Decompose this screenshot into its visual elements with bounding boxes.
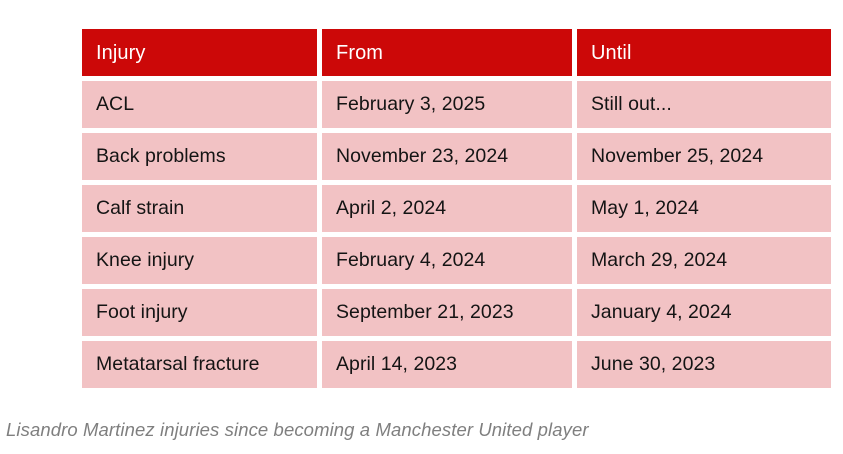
table-row: Foot injury September 21, 2023 January 4… <box>82 289 831 336</box>
cell-from: February 3, 2025 <box>322 81 572 128</box>
table-row: Calf strain April 2, 2024 May 1, 2024 <box>82 185 831 232</box>
table-header: Injury From Until <box>82 29 831 76</box>
cell-from: April 2, 2024 <box>322 185 572 232</box>
cell-injury: ACL <box>82 81 317 128</box>
cell-injury: Metatarsal fracture <box>82 341 317 388</box>
injury-history-table: Injury From Until ACL February 3, 2025 S… <box>77 24 836 393</box>
table-row: ACL February 3, 2025 Still out... <box>82 81 831 128</box>
cell-until: June 30, 2023 <box>577 341 831 388</box>
table-row: Back problems November 23, 2024 November… <box>82 133 831 180</box>
cell-from: February 4, 2024 <box>322 237 572 284</box>
cell-until: Still out... <box>577 81 831 128</box>
cell-until: November 25, 2024 <box>577 133 831 180</box>
cell-from: November 23, 2024 <box>322 133 572 180</box>
column-header-from: From <box>322 29 572 76</box>
cell-injury: Knee injury <box>82 237 317 284</box>
table-row: Metatarsal fracture April 14, 2023 June … <box>82 341 831 388</box>
cell-until: March 29, 2024 <box>577 237 831 284</box>
page-root: Injury From Until ACL February 3, 2025 S… <box>0 0 843 454</box>
cell-injury: Foot injury <box>82 289 317 336</box>
cell-until: January 4, 2024 <box>577 289 831 336</box>
cell-injury: Calf strain <box>82 185 317 232</box>
table-body: ACL February 3, 2025 Still out... Back p… <box>82 81 831 388</box>
column-header-injury: Injury <box>82 29 317 76</box>
table-caption: Lisandro Martinez injuries since becomin… <box>6 419 589 441</box>
table-header-row: Injury From Until <box>82 29 831 76</box>
cell-from: April 14, 2023 <box>322 341 572 388</box>
table-row: Knee injury February 4, 2024 March 29, 2… <box>82 237 831 284</box>
column-header-until: Until <box>577 29 831 76</box>
cell-from: September 21, 2023 <box>322 289 572 336</box>
cell-until: May 1, 2024 <box>577 185 831 232</box>
cell-injury: Back problems <box>82 133 317 180</box>
